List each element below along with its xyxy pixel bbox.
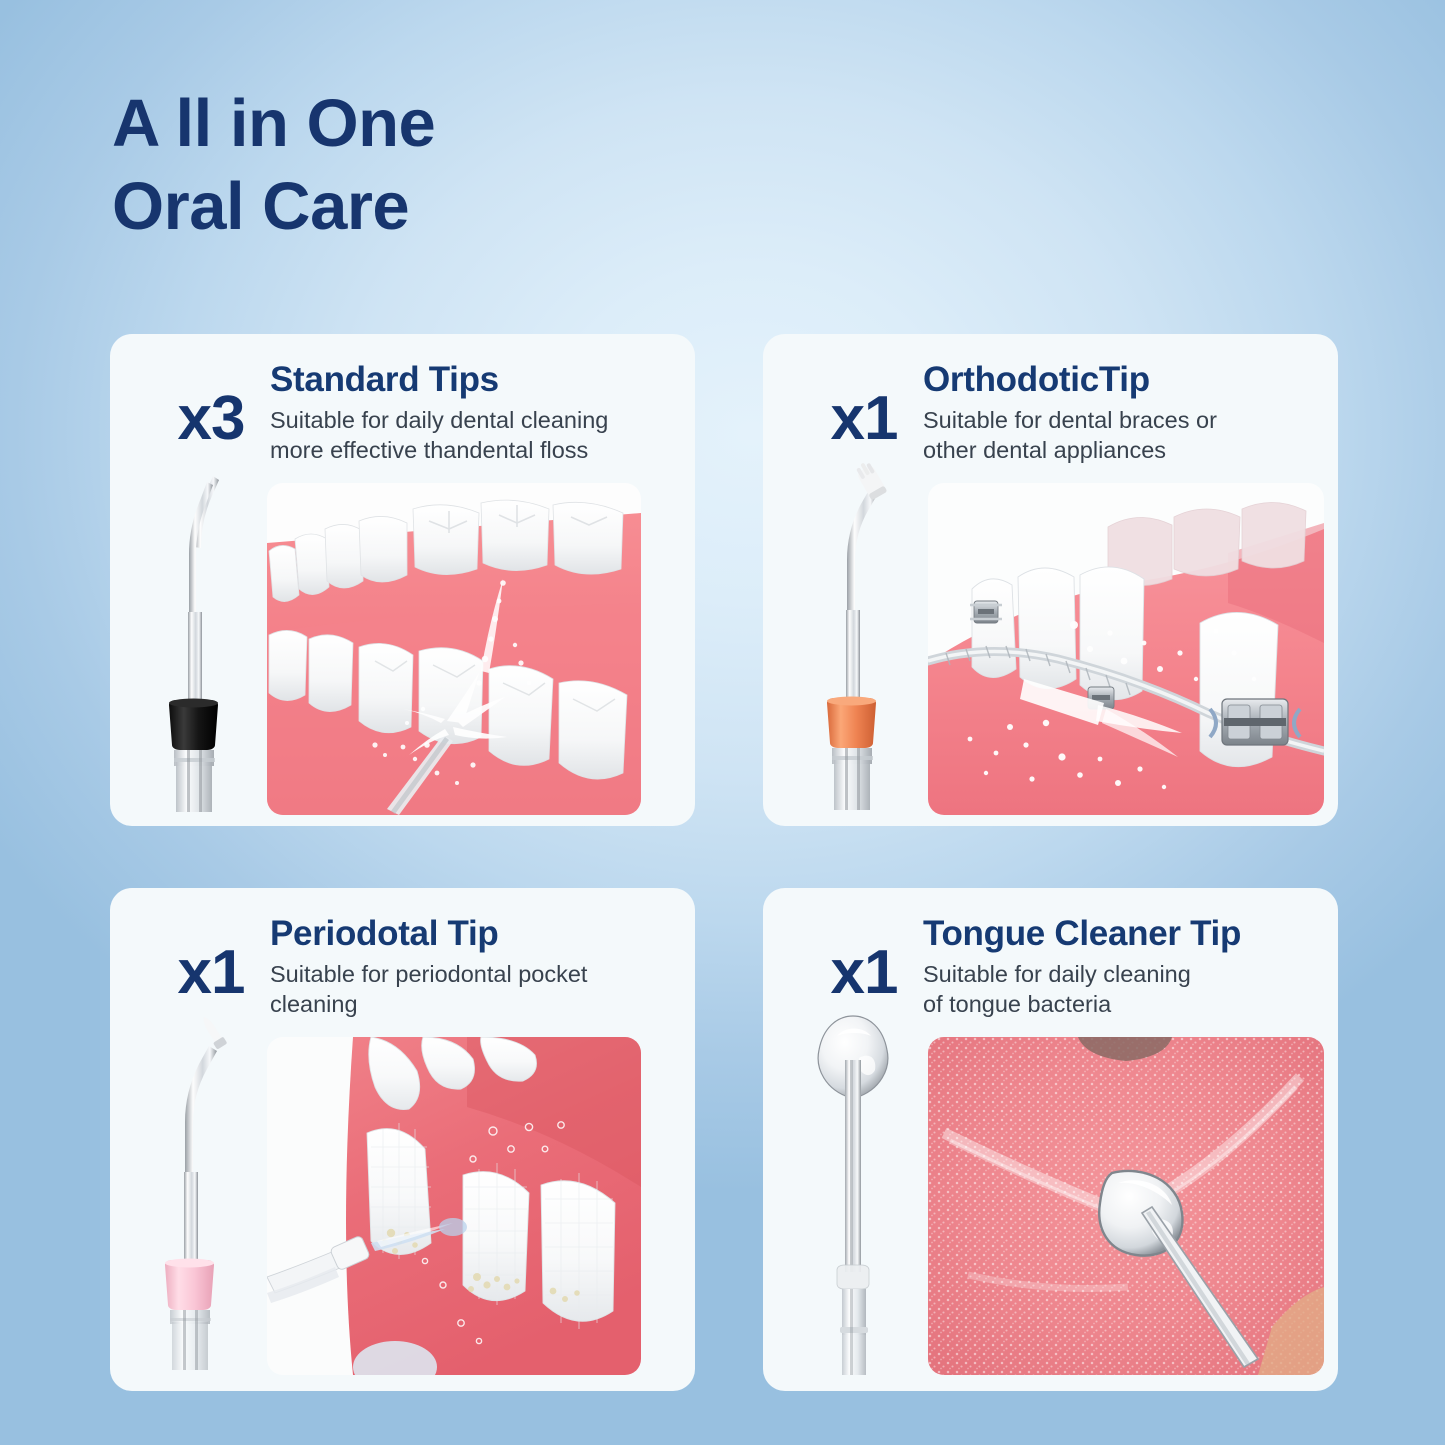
card-header-text: Periodotal Tip Suitable for periodontal …: [270, 914, 683, 1019]
standard-tip-nozzle: [135, 462, 255, 817]
dental-braces-photo: [928, 483, 1324, 815]
tip-title: Standard Tips: [270, 360, 683, 399]
quantity-badge: x3: [156, 388, 266, 450]
tongue-cleaning-photo: [928, 1037, 1324, 1375]
tip-title: Tongue Cleaner Tip: [923, 914, 1326, 953]
quantity-badge: x1: [809, 942, 919, 1004]
quantity-badge: x1: [809, 388, 919, 450]
tip-title: Periodotal Tip: [270, 914, 683, 953]
card-header-text: Tongue Cleaner Tip Suitable for daily cl…: [923, 914, 1326, 1019]
page-title: A ll in One Oral Care: [112, 82, 872, 248]
periodontal-tip-nozzle: [135, 1012, 255, 1377]
quantity-badge: x1: [156, 942, 266, 1004]
periodontal-pocket-photo: [267, 1037, 641, 1375]
tip-description: Suitable for dental braces or other dent…: [923, 405, 1326, 465]
page-title-line-2: Oral Care: [112, 165, 872, 248]
card-header-text: Standard Tips Suitable for daily dental …: [270, 360, 683, 465]
card-header-text: OrthodoticTip Suitable for dental braces…: [923, 360, 1326, 465]
tip-description: Suitable for daily cleaning of tongue ba…: [923, 959, 1326, 1019]
tongue-cleaner-tip-nozzle: [793, 1002, 913, 1382]
orthodontic-tip-nozzle: [795, 460, 915, 815]
tip-description: Suitable for daily dental cleaning more …: [270, 405, 683, 465]
infographic-page: A ll in One Oral Care x3 Standard Tips S…: [0, 0, 1445, 1445]
tip-description: Suitable for periodontal pocket cleaning: [270, 959, 683, 1019]
tip-title: OrthodoticTip: [923, 360, 1326, 399]
teeth-water-flossing-photo: [267, 483, 641, 815]
page-title-line-1: A ll in One: [112, 82, 872, 165]
